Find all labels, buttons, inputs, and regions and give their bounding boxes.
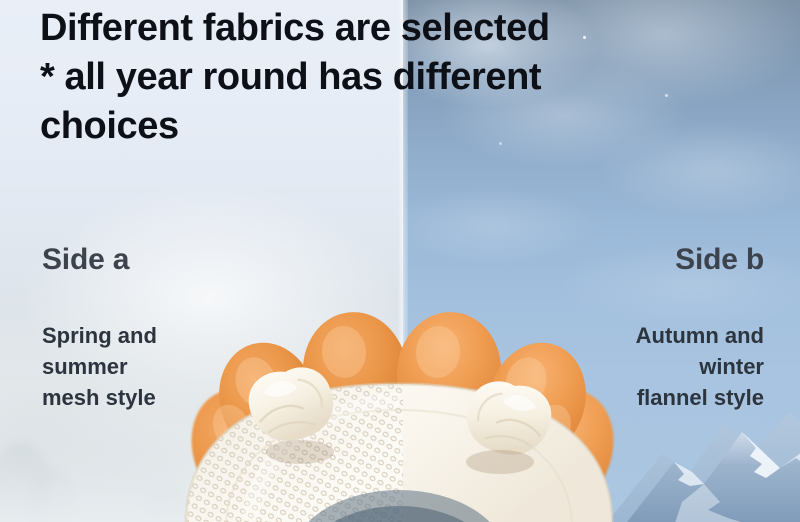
side-a-description: Spring and summer mesh style	[42, 320, 157, 413]
cloud-icon	[403, 185, 603, 265]
side-b-label: Side b	[675, 243, 764, 277]
side-a-label: Side a	[42, 243, 129, 277]
promo-banner: Different fabrics are selected * all yea…	[0, 0, 800, 522]
snow-mountain-icon	[604, 406, 800, 522]
side-b-description: Autumn and winter flannel style	[636, 320, 764, 413]
headline: Different fabrics are selected * all yea…	[40, 4, 760, 151]
